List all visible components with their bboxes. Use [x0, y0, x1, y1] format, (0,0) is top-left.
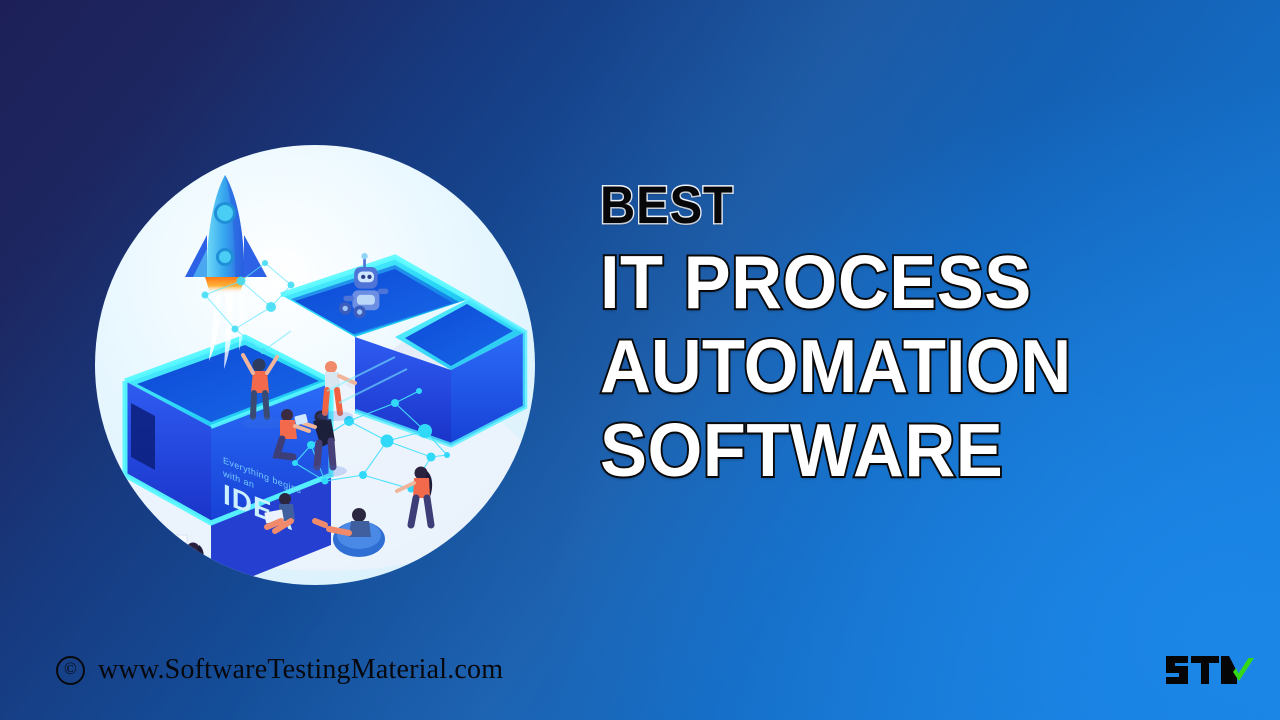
logo-letter-s — [1166, 656, 1188, 684]
headline-block: BEST IT PROCESS AUTOMATION SOFTWARE — [600, 176, 1240, 492]
logo-letter-t — [1191, 656, 1219, 684]
banner-canvas: Everything begins with an IDEA — [0, 0, 1280, 720]
person-presenting-chart — [121, 527, 153, 584]
headline-kicker: BEST — [600, 176, 1189, 236]
website-url: www.SoftwareTestingMaterial.com — [98, 654, 503, 686]
illustration: Everything begins with an IDEA — [95, 145, 535, 585]
pie-chart-poster — [151, 535, 187, 575]
headline-line-1: IT PROCESS — [600, 240, 1202, 324]
footer-attribution: © www.SoftwareTestingMaterial.com — [56, 654, 503, 686]
copyright-icon: © — [56, 656, 85, 685]
person-walking-left — [175, 543, 204, 586]
headline-line-2: AUTOMATION — [600, 324, 1202, 408]
headline-line-3: SOFTWARE — [600, 408, 1202, 492]
stm-logo — [1164, 650, 1256, 690]
